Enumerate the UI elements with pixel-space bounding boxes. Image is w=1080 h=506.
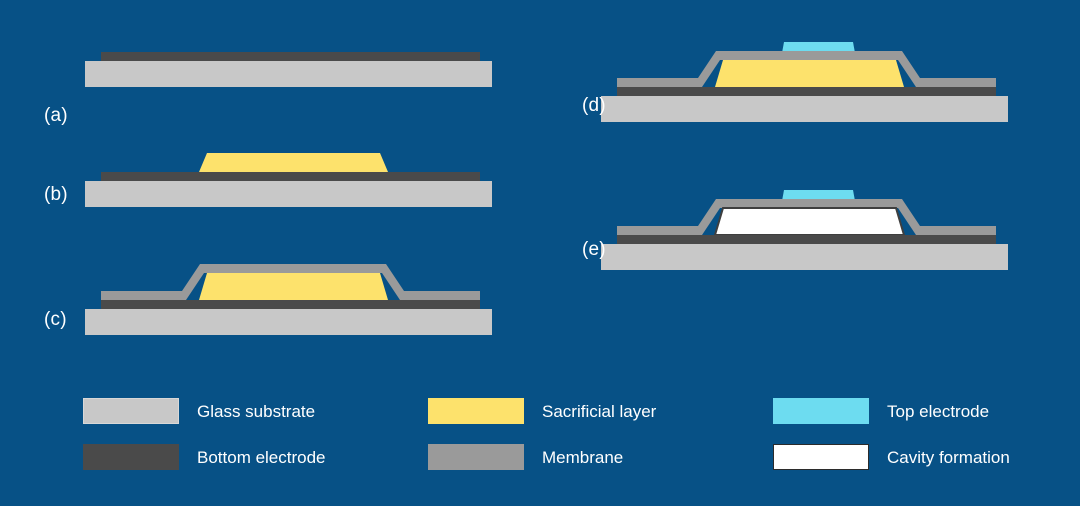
legend-column-3: Top electrode Cavity formation	[773, 388, 1080, 480]
legend-item-top-electrode: Top electrode	[773, 388, 1080, 434]
layer-glass-substrate	[601, 96, 1008, 122]
legend-swatch-bottom-electrode	[83, 444, 179, 470]
legend-column-2: Sacrificial layer Membrane	[428, 388, 748, 480]
legend-label-cavity-formation: Cavity formation	[887, 449, 1010, 466]
layer-bottom-electrode	[617, 235, 996, 244]
legend-item-bottom-electrode: Bottom electrode	[83, 434, 403, 480]
panel-c: (c)	[0, 258, 520, 338]
legend-item-glass-substrate: Glass substrate	[83, 388, 403, 434]
legend-swatch-sacrificial-layer	[428, 398, 524, 424]
legend-label-bottom-electrode: Bottom electrode	[197, 449, 326, 466]
legend-swatch-top-electrode	[773, 398, 869, 424]
panel-e-diagram	[560, 178, 1080, 273]
legend-item-sacrificial-layer: Sacrificial layer	[428, 388, 748, 434]
legend-item-cavity-formation: Cavity formation	[773, 434, 1080, 480]
layer-bottom-electrode	[101, 172, 480, 181]
legend-swatch-glass-substrate	[83, 398, 179, 424]
panel-a: (a)	[0, 40, 520, 100]
panel-d-diagram	[560, 30, 1080, 125]
legend-label-top-electrode: Top electrode	[887, 403, 989, 420]
panel-d-label: (d)	[582, 96, 606, 115]
legend-label-glass-substrate: Glass substrate	[197, 403, 315, 420]
panel-a-label: (a)	[44, 106, 68, 125]
layer-bottom-electrode	[617, 87, 996, 96]
layer-glass-substrate	[85, 309, 492, 335]
legend-column-1: Glass substrate Bottom electrode	[83, 388, 403, 480]
layer-sacrificial	[199, 273, 388, 300]
legend: Glass substrate Bottom electrode Sacrifi…	[83, 388, 1043, 478]
panel-b-diagram	[0, 140, 520, 210]
layer-cavity-formation	[715, 208, 904, 235]
layer-glass-substrate	[85, 181, 492, 207]
layer-bottom-electrode	[101, 52, 480, 61]
panel-a-diagram	[0, 40, 520, 100]
layer-glass-substrate	[601, 244, 1008, 270]
layer-sacrificial	[715, 60, 904, 87]
legend-swatch-membrane	[428, 444, 524, 470]
legend-item-membrane: Membrane	[428, 434, 748, 480]
panel-b-label: (b)	[44, 185, 68, 204]
layer-sacrificial	[199, 153, 388, 172]
panel-b: (b)	[0, 140, 520, 210]
legend-swatch-cavity-formation	[773, 444, 869, 470]
panel-e-label: (e)	[582, 240, 606, 259]
panel-c-diagram	[0, 258, 520, 338]
panel-e: (e)	[560, 178, 1080, 273]
layer-glass-substrate	[85, 61, 492, 87]
panel-d: (d)	[560, 30, 1080, 125]
legend-label-membrane: Membrane	[542, 449, 623, 466]
legend-label-sacrificial-layer: Sacrificial layer	[542, 403, 656, 420]
layer-bottom-electrode	[101, 300, 480, 309]
figure-canvas: (a) (b) (c)	[0, 0, 1080, 506]
panel-c-label: (c)	[44, 310, 67, 329]
